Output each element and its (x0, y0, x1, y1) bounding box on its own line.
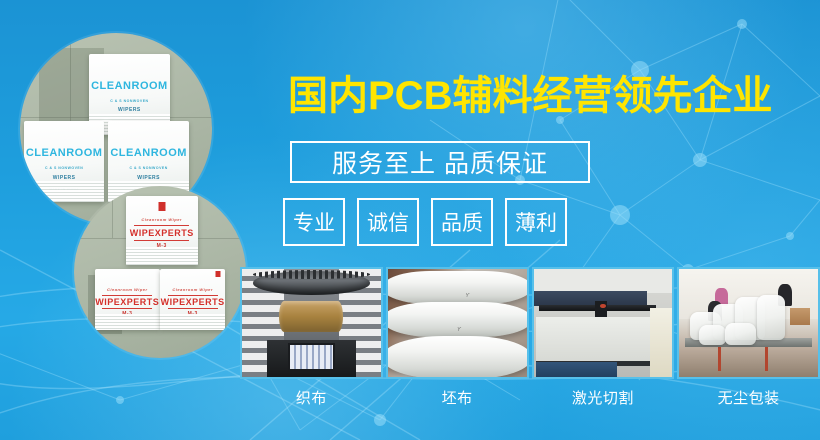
fabric-roll-1 (386, 271, 529, 303)
slogan-text: 服务至上 品质保证 (332, 144, 548, 180)
process-photo-strip: 织布 Ƴ Ƴ 坯布 (240, 267, 820, 412)
process-caption: 激光切割 (532, 387, 675, 408)
process-caption: 织布 (240, 387, 383, 408)
value-tag-list: 专业 诚信 品质 薄利 (283, 198, 567, 246)
laser-indicator-light (600, 304, 606, 308)
fabric-output-panel (288, 343, 335, 371)
control-cabinet (536, 362, 616, 377)
pack-fold-edge (126, 247, 198, 265)
pack-brand-label: WIPEXPERTS (95, 297, 160, 307)
banner-headline: 国内PCB辅料经营领先企业 (288, 74, 772, 118)
pack-subline-2: WIPERS (108, 175, 189, 181)
pack-subline-1: C & S NONWOVEN (108, 166, 189, 170)
process-item-laser-cutting: 激光切割 (532, 267, 675, 412)
greige-fabric-rolls-photo: Ƴ Ƴ (386, 267, 529, 379)
wipexperts-pack-top: Cleanroom Wiper WIPEXPERTS M-3 (126, 196, 198, 265)
roll-marking-1: Ƴ (465, 293, 469, 299)
pack-brand-label: CLEANROOM (108, 147, 189, 159)
side-panel (650, 308, 672, 377)
brass-drum (279, 301, 343, 331)
pack-script-label: Cleanroom Wiper (95, 287, 160, 292)
pack-brand-label: WIPEXPERTS (126, 228, 198, 238)
process-caption: 坯布 (386, 387, 529, 408)
pack-brand-label: CLEANROOM (89, 80, 170, 92)
wipexperts-pack-right: Cleanroom Wiper WIPEXPERTS M-3 (160, 269, 225, 331)
laser-cutter-scene (534, 269, 673, 377)
process-item-weaving: 织布 (240, 267, 383, 412)
pack-rule-top (168, 295, 218, 296)
pack-brand-label: CLEANROOM (24, 147, 105, 159)
process-item-greige-fabric: Ƴ Ƴ 坯布 (386, 267, 529, 412)
carton-box (790, 308, 809, 325)
wipe-bag-4 (757, 295, 785, 340)
roll-marking-2: Ƴ (457, 327, 461, 333)
pack-rule-top (102, 295, 152, 296)
pack-subline-1: C & S NONWOVEN (24, 166, 105, 170)
weaving-machine-photo (240, 267, 383, 379)
back-wall (534, 269, 673, 293)
wall-seam (112, 186, 113, 238)
wipexperts-product-scene: Cleanroom Wiper WIPEXPERTS M-3 Cleanroom… (74, 186, 246, 358)
fabric-roll-3 (386, 336, 529, 379)
laser-cutting-photo (532, 267, 675, 379)
promo-banner: CLEANROOM C & S NONWOVEN WIPERS MADE IN … (0, 0, 820, 440)
wipe-bag-5 (699, 325, 727, 344)
fabric-rolls-scene: Ƴ Ƴ (388, 269, 527, 377)
product-circle-wipexperts: Cleanroom Wiper WIPEXPERTS M-3 Cleanroom… (74, 186, 246, 358)
pack-rule-top (134, 225, 189, 226)
pack-brand-label: WIPEXPERTS (160, 297, 225, 307)
pack-subline-1: C & S NONWOVEN (89, 99, 170, 103)
pack-subline-2: WIPERS (89, 107, 170, 113)
pack-fold-edge (160, 314, 225, 330)
pack-rule-bottom (134, 240, 189, 241)
tag-low-margin: 薄利 (505, 198, 567, 246)
cleanroom-packing-photo (677, 267, 820, 379)
tag-professional: 专业 (283, 198, 345, 246)
pack-script-label: Cleanroom Wiper (126, 217, 198, 222)
wipe-bag-6 (725, 323, 756, 345)
needle-pins (253, 270, 370, 279)
weaving-scene (242, 269, 381, 377)
tag-quality: 品质 (431, 198, 493, 246)
red-stamp-icon (215, 271, 220, 277)
pack-script-label: Cleanroom Wiper (160, 287, 225, 292)
pack-subline-2: WIPERS (24, 175, 105, 181)
pack-rule-bottom (102, 308, 152, 309)
process-caption: 无尘包装 (677, 387, 820, 408)
pack-rule-bottom (168, 308, 218, 309)
wipexperts-pack-left: Cleanroom Wiper WIPEXPERTS M-3 (95, 269, 160, 331)
table-leg-right (765, 347, 768, 371)
cutting-bed (536, 317, 653, 365)
red-stamp-icon (158, 202, 165, 211)
machine-back-panel (534, 291, 648, 306)
slogan-box: 服务至上 品质保证 (290, 141, 590, 183)
packing-room-scene (679, 269, 818, 377)
pack-fold-edge (95, 314, 160, 330)
table-leg-left (718, 347, 721, 371)
process-item-cleanroom-packing: 无尘包装 (677, 267, 820, 412)
tag-integrity: 诚信 (357, 198, 419, 246)
